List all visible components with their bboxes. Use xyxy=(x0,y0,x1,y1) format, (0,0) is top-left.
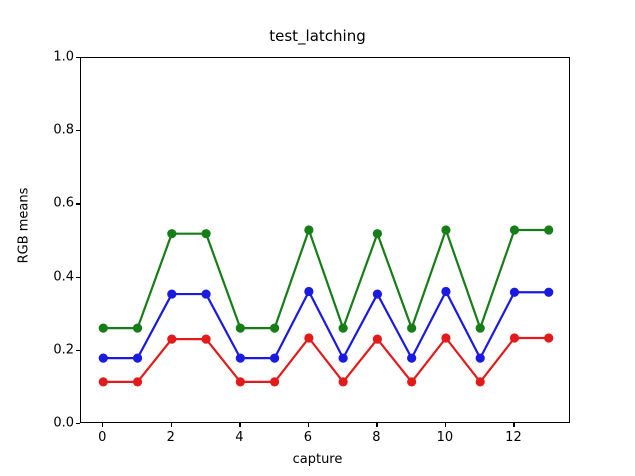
series-line xyxy=(103,230,548,328)
figure-canvas: test_latching RGB means capture 0.00.20.… xyxy=(0,0,635,476)
data-point-marker xyxy=(167,334,176,343)
series-r xyxy=(99,333,554,386)
data-point-marker xyxy=(270,354,279,363)
data-point-marker xyxy=(544,225,553,234)
data-point-marker xyxy=(270,377,279,386)
data-point-marker xyxy=(339,377,348,386)
data-point-marker xyxy=(99,354,108,363)
data-point-marker xyxy=(339,324,348,333)
data-point-marker xyxy=(441,287,450,296)
data-point-marker xyxy=(270,324,279,333)
plot-area xyxy=(80,57,570,423)
x-tick-label: 2 xyxy=(151,430,191,445)
data-point-marker xyxy=(373,229,382,238)
y-tick-label: 0.0 xyxy=(38,416,74,431)
data-point-marker xyxy=(407,354,416,363)
data-point-marker xyxy=(236,354,245,363)
data-point-marker xyxy=(510,288,519,297)
x-axis-label: capture xyxy=(0,452,635,467)
y-tick-label: 1.0 xyxy=(38,50,74,65)
y-axis-tick-labels: 0.00.20.40.60.81.0 xyxy=(30,0,74,476)
data-point-marker xyxy=(544,288,553,297)
data-point-marker xyxy=(304,225,313,234)
data-point-marker xyxy=(167,289,176,298)
data-point-marker xyxy=(476,377,485,386)
data-point-marker xyxy=(133,354,142,363)
y-tick-label: 0.2 xyxy=(38,342,74,357)
data-point-marker xyxy=(236,324,245,333)
x-tick-label: 0 xyxy=(82,430,122,445)
data-point-marker xyxy=(407,377,416,386)
data-point-marker xyxy=(236,377,245,386)
data-point-marker xyxy=(476,324,485,333)
y-tick-label: 0.4 xyxy=(38,269,74,284)
data-point-marker xyxy=(99,377,108,386)
data-point-marker xyxy=(373,334,382,343)
y-tick-label: 0.6 xyxy=(38,196,74,211)
x-tick-label: 10 xyxy=(425,430,465,445)
data-point-marker xyxy=(339,354,348,363)
series-svg xyxy=(81,58,571,424)
x-tick-label: 4 xyxy=(219,430,259,445)
data-point-marker xyxy=(441,333,450,342)
data-point-marker xyxy=(304,287,313,296)
data-point-marker xyxy=(133,324,142,333)
data-point-marker xyxy=(133,377,142,386)
series-b xyxy=(99,287,554,363)
data-point-marker xyxy=(407,324,416,333)
y-tick-mark xyxy=(76,423,80,424)
data-point-marker xyxy=(201,229,210,238)
data-point-marker xyxy=(544,333,553,342)
chart-title: test_latching xyxy=(0,27,635,45)
data-point-marker xyxy=(476,354,485,363)
data-point-marker xyxy=(201,289,210,298)
data-point-marker xyxy=(441,225,450,234)
data-point-marker xyxy=(373,289,382,298)
data-point-marker xyxy=(201,334,210,343)
series-g xyxy=(99,225,554,332)
x-tick-label: 12 xyxy=(493,430,533,445)
data-point-marker xyxy=(510,225,519,234)
x-tick-label: 6 xyxy=(288,430,328,445)
data-point-marker xyxy=(167,229,176,238)
data-point-marker xyxy=(304,333,313,342)
x-tick-label: 8 xyxy=(356,430,396,445)
data-point-marker xyxy=(99,324,108,333)
y-tick-label: 0.8 xyxy=(38,123,74,138)
data-point-marker xyxy=(510,333,519,342)
